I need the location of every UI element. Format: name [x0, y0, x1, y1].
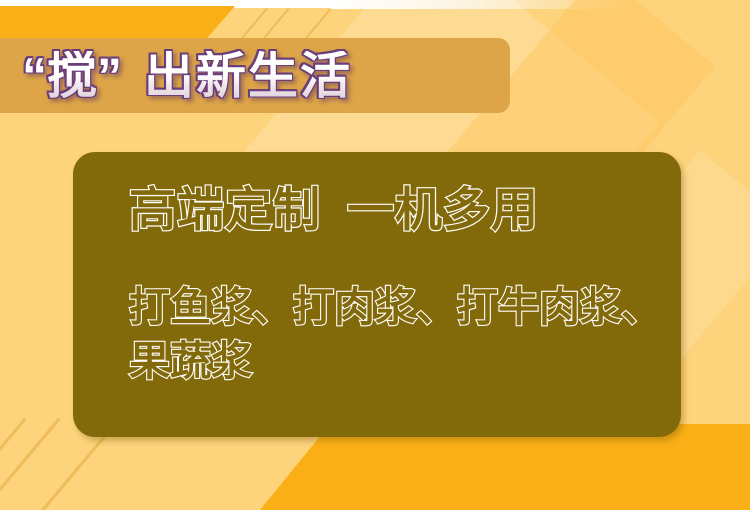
top-white-strip	[0, 0, 750, 8]
pinstripe-bottom-1	[0, 418, 26, 510]
card-headline: 高端定制一机多用	[129, 184, 539, 236]
pinstripe-bottom-2	[0, 418, 60, 510]
pinstripe-top-2	[262, 8, 289, 40]
card-headline-left: 高端定制	[129, 183, 321, 236]
banner-bar: “搅”出新生活	[0, 38, 510, 113]
top-white-fade-strip	[330, 0, 750, 9]
feature-card: 高端定制一机多用 打鱼浆、打肉浆、打牛肉浆、 果蔬浆	[73, 152, 681, 437]
pinstripe-top-1	[240, 8, 267, 40]
card-body-line: 果蔬浆	[129, 334, 689, 388]
banner-title-rest: 出新生活	[144, 48, 352, 104]
pinstripe-bottom-3	[31, 430, 110, 510]
card-body-line: 打鱼浆、打肉浆、打牛肉浆、	[129, 280, 689, 334]
card-body-text: 打鱼浆、打肉浆、打牛肉浆、 果蔬浆	[129, 280, 689, 388]
banner-title: “搅”出新生活	[22, 51, 352, 101]
card-headline-right: 一机多用	[347, 183, 539, 236]
promotional-poster: “搅”出新生活 高端定制一机多用 打鱼浆、打肉浆、打牛肉浆、 果蔬浆	[0, 0, 750, 510]
banner-title-keyword: “搅”	[22, 48, 122, 104]
pinstripe-top-3	[304, 8, 331, 40]
